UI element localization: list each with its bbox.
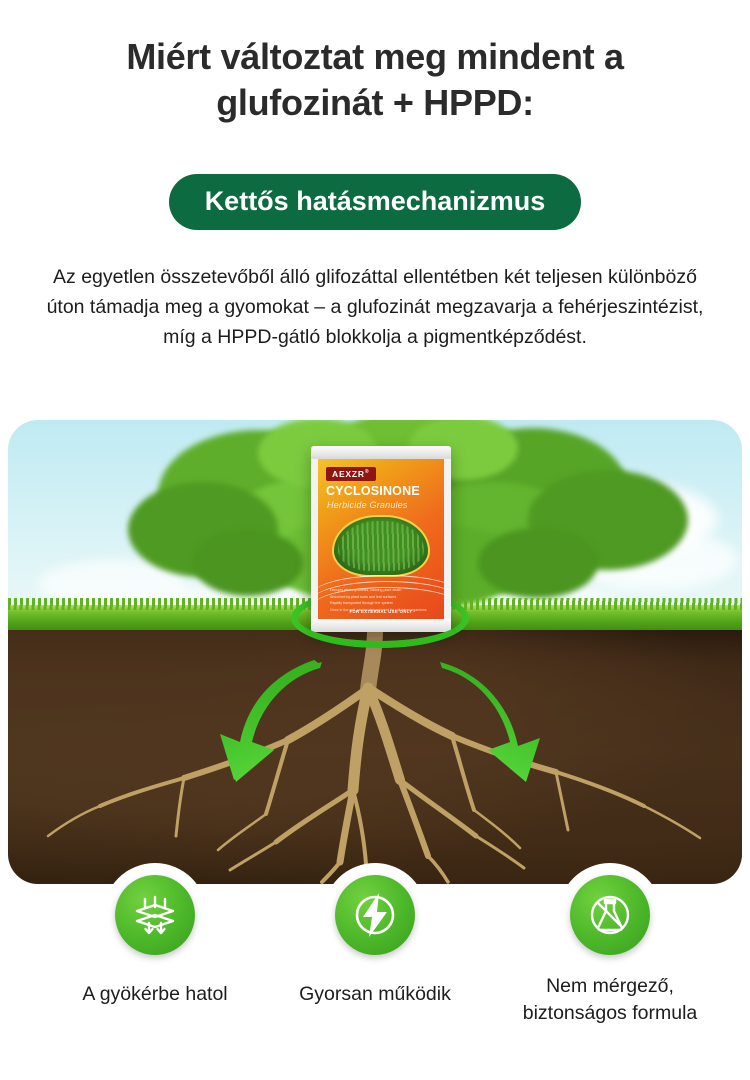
product-subtitle: Herbicide Granules (327, 500, 439, 510)
feature-label: Nem mérgező, biztonságos formula (505, 973, 715, 1027)
description-paragraph: Az egyetlen összetevőből álló glifozátta… (35, 262, 715, 353)
brand-logo: AEXZR® (326, 467, 376, 481)
promo-page: Miért változtat meg mindent a glufozinát… (0, 0, 750, 1080)
page-title: Miért változtat meg mindent a glufozinát… (40, 34, 710, 126)
highlight-ring-front (291, 588, 469, 648)
package-seal-top (311, 446, 451, 459)
product-name: CYCLOSINONE (326, 484, 438, 498)
feature-label: Gyorsan működik (270, 981, 480, 1008)
lightning-bolt-icon (335, 875, 415, 955)
root-system (8, 630, 742, 884)
package-artwork (332, 515, 430, 577)
brand-name: AEXZR (332, 469, 365, 479)
registered-mark: ® (365, 469, 369, 475)
soil-penetration-icon (115, 875, 195, 955)
badge-container: Kettős hatásmechanizmus (0, 174, 750, 230)
feature-item-non-toxic: Nem mérgező, biztonságos formula (505, 885, 715, 1027)
feature-item-root-penetration: A gyökérbe hatol (50, 885, 260, 1008)
no-toxic-flask-icon (570, 875, 650, 955)
scene-illustration: AEXZR® CYCLOSINONE Herbicide Granules Di… (8, 420, 742, 884)
feature-item-fast-acting: Gyorsan működik (270, 885, 480, 1008)
icon-halo (323, 863, 427, 967)
status-badge: Kettős hatásmechanizmus (169, 174, 582, 230)
feature-label: A gyökérbe hatol (50, 981, 260, 1008)
icon-halo (558, 863, 662, 967)
icon-halo (103, 863, 207, 967)
feature-row: A gyökérbe hatol Gyorsan működik (0, 885, 750, 1080)
